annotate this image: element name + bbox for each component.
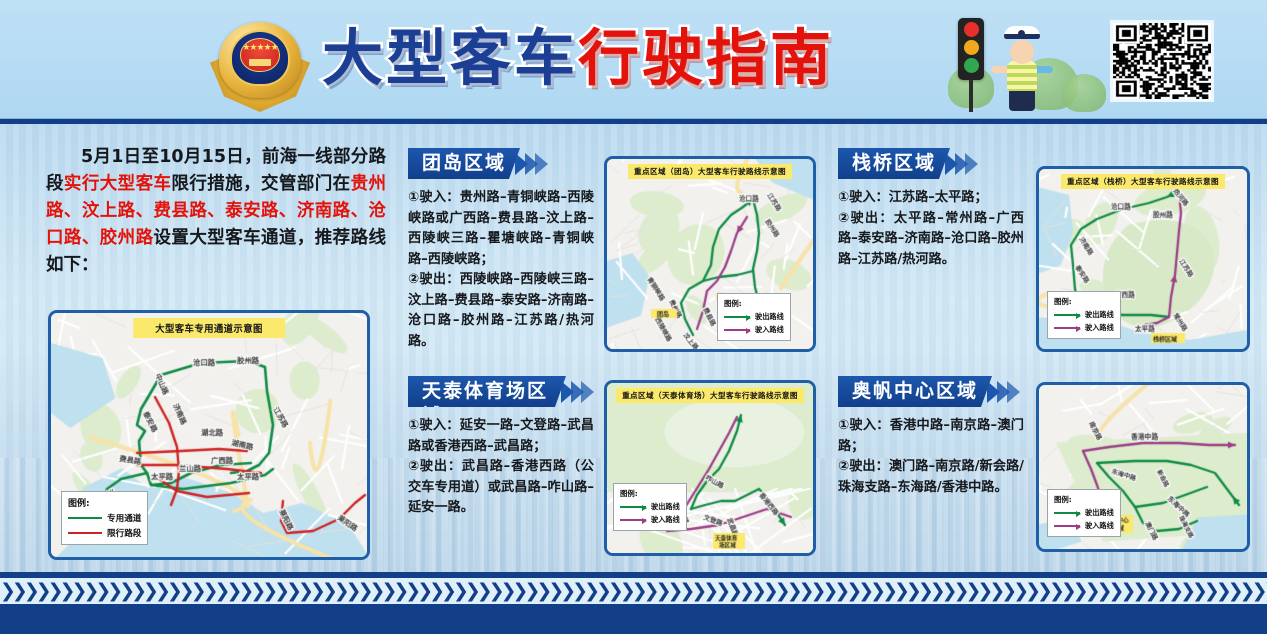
- map-legend: 图例: 驶出路线 驶入路线: [1047, 489, 1121, 537]
- legend-swatch-restricted: [68, 532, 102, 534]
- page-title: 大型客车行驶指南: [322, 18, 834, 100]
- section-header: 栈桥区域: [838, 148, 1024, 179]
- section-title: 天泰体育场区域: [408, 376, 566, 407]
- chevron-right-icon: [564, 381, 594, 403]
- map-title: 大型客车专用通道示意图: [133, 318, 285, 338]
- section-body: ①驶入：香港中路–南京路–澳门路； ②驶出：澳门路–南京路/新会路/珠海支路–东…: [838, 416, 1024, 498]
- legend-title: 图例:: [1054, 296, 1114, 307]
- traffic-light-icon: [958, 18, 984, 110]
- section-aofan: 奥帆中心区域 ①驶入：香港中路–南京路–澳门路； ②驶出：澳门路–南京路/新会路…: [838, 376, 1024, 498]
- legend-swatch-exit: [1054, 512, 1080, 514]
- legend-label-exit: 驶出路线: [1085, 310, 1114, 320]
- legend-label-exit: 驶出路线: [755, 312, 784, 322]
- main-content: 5月1日至10月15日，前海一线部分路段实行大型客车限行措施，交管部门在贵州路、…: [0, 124, 1267, 572]
- legend-title: 图例:: [1054, 494, 1114, 505]
- traffic-light-green: [964, 58, 979, 73]
- legend-swatch-enter: [724, 329, 750, 331]
- section-line-2: ②驶出：武昌路–香港西路（公交车专用道）或武昌路–咋山路–延安一路。: [408, 457, 594, 519]
- section-header: 团岛区域: [408, 148, 594, 179]
- police-emblem: ★★★★★: [208, 16, 312, 116]
- page-title-red: 行驶指南: [578, 23, 834, 94]
- legend-label-enter: 驶入路线: [651, 515, 680, 525]
- legend-swatch-enter: [620, 519, 646, 521]
- legend-swatch-exit: [724, 316, 750, 318]
- section-line-2: ②驶出：澳门路–南京路/新会路/珠海支路–东海路/香港中路。: [838, 457, 1024, 498]
- legend-label-enter: 驶入路线: [755, 325, 784, 335]
- intro-paragraph: 5月1日至10月15日，前海一线部分路段实行大型客车限行措施，交管部门在贵州路、…: [46, 144, 386, 279]
- legend-label-exit: 驶出路线: [1085, 508, 1114, 518]
- legend-label-lane: 专用通道: [107, 512, 141, 524]
- section-line-1: ①驶入：贵州路–青铜峡路–西陵峡路或广西路–费县路–汶上路–西陵峡三路–瞿塘峡路…: [408, 188, 594, 270]
- traffic-light-yellow: [964, 40, 979, 55]
- section-tiantai: 天泰体育场区域 ①驶入：延安一路–文登路–武昌路或香港西路–武昌路； ②驶出：武…: [408, 376, 594, 519]
- legend-label-exit: 驶出路线: [651, 502, 680, 512]
- header-divider: [0, 118, 1267, 124]
- legend-title: 图例:: [68, 496, 141, 509]
- legend-swatch-lane: [68, 517, 102, 519]
- map-legend: 图例: 驶出路线 驶入路线: [1047, 291, 1121, 339]
- legend-title: 图例:: [724, 298, 784, 309]
- section-line-2: ②驶出：西陵峡路–西陵峡三路–汶上路–费县路–泰安路–济南路–沧口路–胶州路–江…: [408, 270, 594, 352]
- chevron-right-icon: [948, 153, 978, 175]
- legend-label-enter: 驶入路线: [1085, 323, 1114, 333]
- section-header: 奥帆中心区域: [838, 376, 1024, 407]
- chevron-right-icon: [518, 153, 548, 175]
- chevron-right-icon: [990, 381, 1020, 403]
- map-legend: 图例: 驶出路线 驶入路线: [613, 483, 687, 531]
- map-zhanqiao[interactable]: 重点区域（栈桥）大型客车行驶路线示意图 图例: 驶出路线 驶入路线: [1036, 166, 1250, 352]
- legend-swatch-exit: [1054, 314, 1080, 316]
- legend-swatch-enter: [1054, 525, 1080, 527]
- section-body: ①驶入：江苏路–太平路； ②驶出：太平路–常州路–广西路–泰安路–济南路–沧口路…: [838, 188, 1024, 270]
- traffic-officer-mascot: [995, 26, 1049, 112]
- section-line-1: ①驶入：江苏路–太平路；: [838, 188, 1024, 209]
- legend-label-restricted: 限行路段: [107, 527, 141, 539]
- section-line-1: ①驶入：延安一路–文登路–武昌路或香港西路–武昌路；: [408, 416, 594, 457]
- section-tuandao: 团岛区域 ①驶入：贵州路–青铜峡路–西陵峡路或广西路–费县路–汶上路–西陵峡三路…: [408, 148, 594, 352]
- page-footer: ❯❯❯❯❯❯❯❯❯❯❯❯❯❯❯❯❯❯❯❯❯❯❯❯❯❯❯❯❯❯❯❯❯❯❯❯❯❯❯❯…: [0, 572, 1267, 634]
- map-title: 重点区域（团岛）大型客车行驶路线示意图: [628, 164, 792, 179]
- map-legend: 图例: 驶出路线 驶入路线: [717, 293, 791, 341]
- chevron-band: ❯❯❯❯❯❯❯❯❯❯❯❯❯❯❯❯❯❯❯❯❯❯❯❯❯❯❯❯❯❯❯❯❯❯❯❯❯❯❯❯…: [0, 578, 1267, 604]
- legend-title: 图例:: [620, 488, 680, 499]
- section-title: 栈桥区域: [838, 148, 950, 179]
- section-title: 奥帆中心区域: [838, 376, 992, 407]
- traffic-light-red: [964, 22, 979, 37]
- page-header: ★★★★★ 大型客车行驶指南: [0, 0, 1267, 118]
- map-tiantai[interactable]: 重点区域（天泰体育场）大型客车行驶路线示意图 图例: 驶出路线 驶入路线: [604, 380, 816, 556]
- section-body: ①驶入：延安一路–文登路–武昌路或香港西路–武昌路； ②驶出：武昌路–香港西路（…: [408, 416, 594, 519]
- section-zhanqiao: 栈桥区域 ①驶入：江苏路–太平路； ②驶出：太平路–常州路–广西路–泰安路–济南…: [838, 148, 1024, 270]
- map-dedicated-lane[interactable]: 大型客车专用通道示意图 图例: 专用通道 限行路段: [48, 310, 370, 560]
- page-title-blue: 大型客车: [322, 23, 578, 94]
- legend-swatch-exit: [620, 506, 646, 508]
- map-aofan[interactable]: 图例: 驶出路线 驶入路线: [1036, 382, 1250, 552]
- intro-highlight-1: 实行大型客车: [64, 174, 172, 194]
- intro-date: 5月1日至10月15日: [81, 147, 244, 167]
- map-tuandao[interactable]: 重点区域（团岛）大型客车行驶路线示意图 图例: 驶出路线 驶入路线: [604, 156, 816, 352]
- section-header: 天泰体育场区域: [408, 376, 594, 407]
- qr-code[interactable]: [1110, 20, 1214, 102]
- section-line-1: ①驶入：香港中路–南京路–澳门路；: [838, 416, 1024, 457]
- footer-bar: [0, 604, 1267, 634]
- section-line-2: ②驶出：太平路–常州路–广西路–泰安路–济南路–沧口路–胶州路–江苏路/热河路。: [838, 209, 1024, 271]
- legend-swatch-enter: [1054, 327, 1080, 329]
- section-title: 团岛区域: [408, 148, 520, 179]
- map-legend: 图例: 专用通道 限行路段: [61, 491, 148, 545]
- legend-label-enter: 驶入路线: [1085, 521, 1114, 531]
- map-title: 重点区域（栈桥）大型客车行驶路线示意图: [1061, 174, 1225, 189]
- section-body: ①驶入：贵州路–青铜峡路–西陵峡路或广西路–费县路–汶上路–西陵峡三路–瞿塘峡路…: [408, 188, 594, 352]
- map-title: 重点区域（天泰体育场）大型客车行驶路线示意图: [616, 388, 804, 403]
